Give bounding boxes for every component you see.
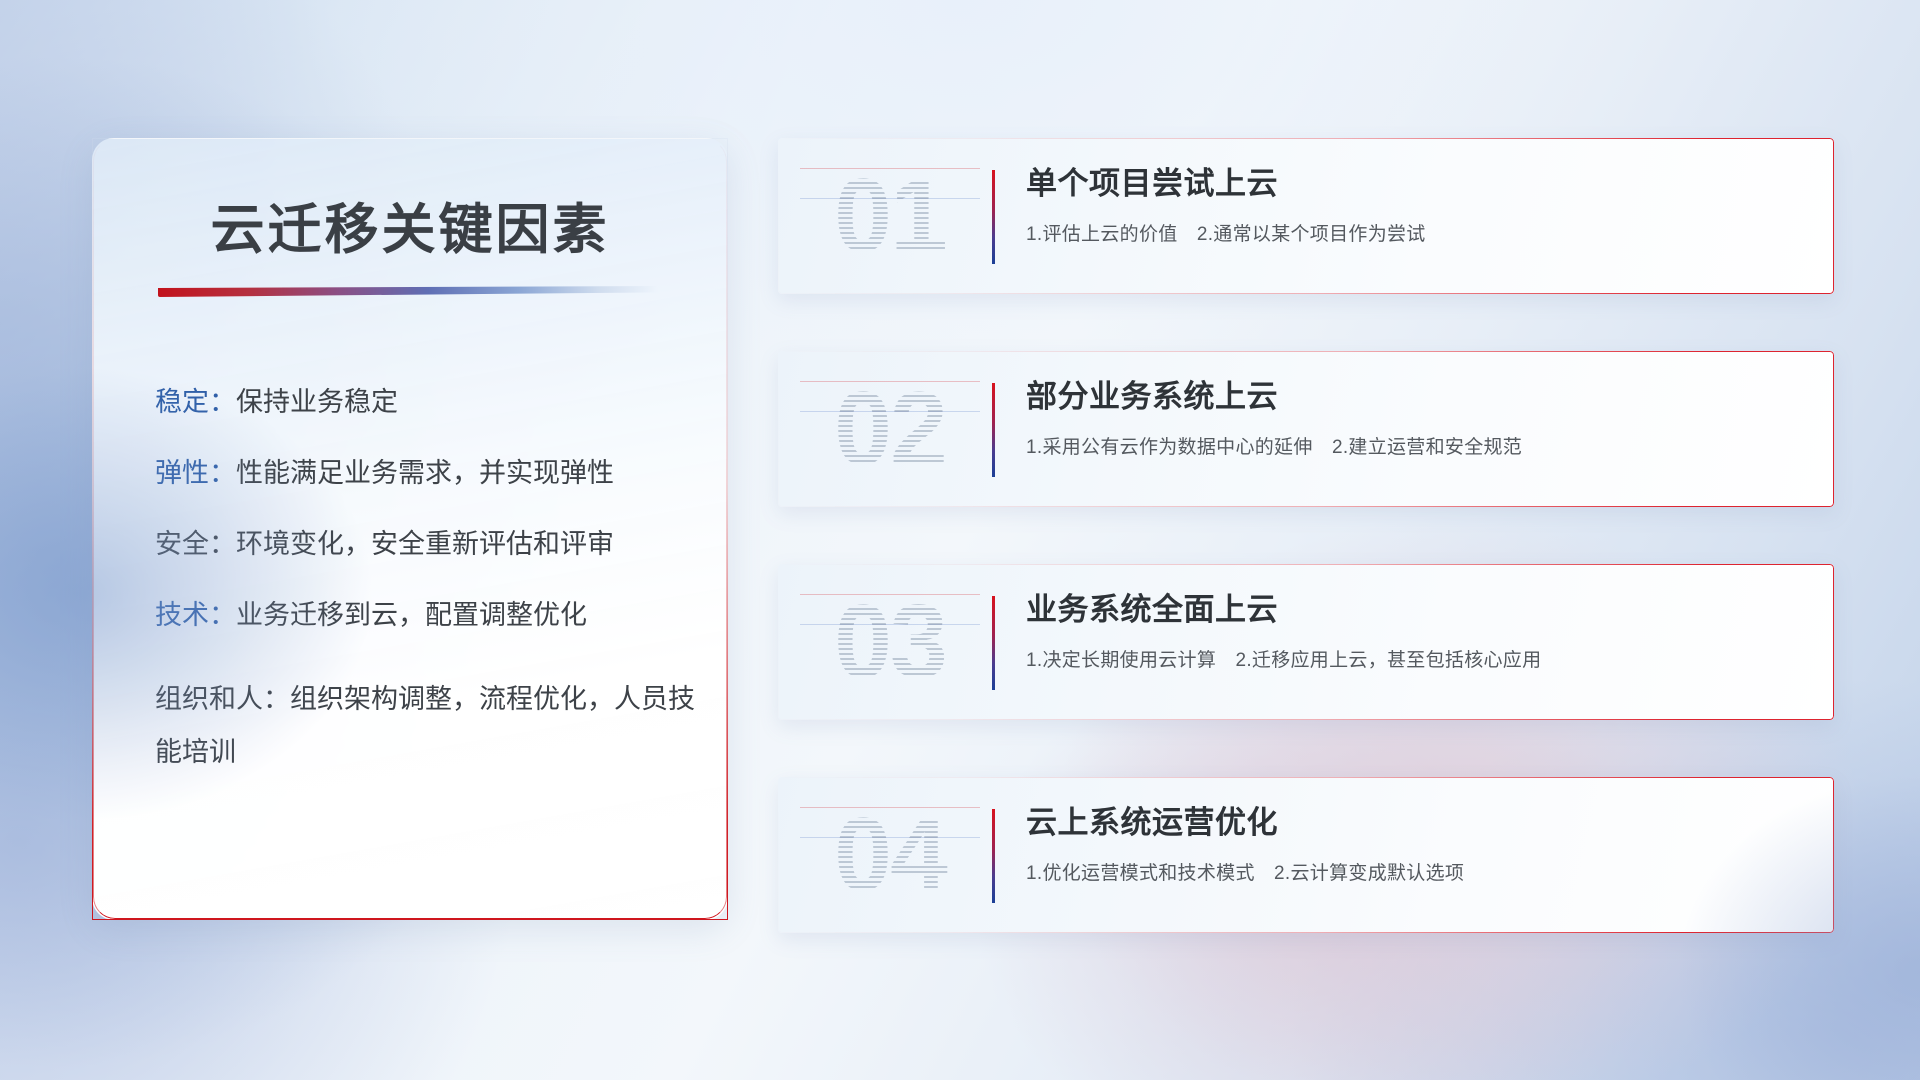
list-item: 稳定：保持业务稳定 bbox=[155, 389, 697, 416]
stage-description: 1.采用公有云作为数据中心的延伸 2.建立运营和安全规范 bbox=[1026, 432, 1810, 459]
factor-label: 稳定： bbox=[155, 387, 236, 417]
list-item: 弹性：性能满足业务需求，并实现弹性 bbox=[155, 460, 697, 487]
factor-value: 环境变化，安全重新评估和评审 bbox=[236, 529, 614, 559]
stage-description: 1.优化运营模式和技术模式 2.云计算变成默认选项 bbox=[1026, 858, 1810, 885]
stage-content: 业务系统全面上云 1.决定长期使用云计算 2.迁移应用上云，甚至包括核心应用 bbox=[1026, 592, 1810, 672]
factor-label: 安全： bbox=[155, 529, 236, 559]
stage-number-watermark: 04 bbox=[800, 791, 980, 919]
stage-content: 单个项目尝试上云 1.评估上云的价值 2.通常以某个项目作为尝试 bbox=[1026, 166, 1810, 246]
factor-value: 性能满足业务需求，并实现弹性 bbox=[236, 458, 614, 488]
key-factors-panel: 云迁移关键因素 稳定：保持业务稳定 弹性：性能满足业务需求，并实现弹性 安全：环… bbox=[92, 138, 728, 920]
stage-card-03[interactable]: 03 业务系统全面上云 1.决定长期使用云计算 2.迁移应用上云，甚至包括核心应… bbox=[778, 564, 1834, 720]
stage-content: 云上系统运营优化 1.优化运营模式和技术模式 2.云计算变成默认选项 bbox=[1026, 805, 1810, 885]
stage-accent-bar bbox=[992, 383, 995, 477]
stage-accent-bar bbox=[992, 170, 995, 264]
slide-canvas: 云迁移关键因素 稳定：保持业务稳定 弹性：性能满足业务需求，并实现弹性 安全：环… bbox=[0, 0, 1920, 1080]
list-item: 技术：业务迁移到云，配置调整优化 bbox=[155, 602, 697, 629]
stage-title: 业务系统全面上云 bbox=[1026, 592, 1810, 629]
list-item: 安全：环境变化，安全重新评估和评审 bbox=[155, 531, 697, 558]
stage-content: 部分业务系统上云 1.采用公有云作为数据中心的延伸 2.建立运营和安全规范 bbox=[1026, 379, 1810, 459]
stage-number-watermark: 02 bbox=[800, 365, 980, 493]
stage-title: 单个项目尝试上云 bbox=[1026, 166, 1810, 203]
stage-title: 部分业务系统上云 bbox=[1026, 379, 1810, 416]
stage-number-watermark: 03 bbox=[800, 578, 980, 706]
title-underline-accent bbox=[158, 286, 658, 297]
stage-card-02[interactable]: 02 部分业务系统上云 1.采用公有云作为数据中心的延伸 2.建立运营和安全规范 bbox=[778, 351, 1834, 507]
stage-accent-bar bbox=[992, 596, 995, 690]
factor-value: 保持业务稳定 bbox=[236, 387, 398, 417]
stage-number-watermark: 01 bbox=[800, 152, 980, 280]
factor-value: 业务迁移到云，配置调整优化 bbox=[236, 600, 587, 630]
key-factors-list: 稳定：保持业务稳定 弹性：性能满足业务需求，并实现弹性 安全：环境变化，安全重新… bbox=[155, 389, 697, 778]
stage-card-01[interactable]: 01 单个项目尝试上云 1.评估上云的价值 2.通常以某个项目作为尝试 bbox=[778, 138, 1834, 294]
stage-description: 1.决定长期使用云计算 2.迁移应用上云，甚至包括核心应用 bbox=[1026, 645, 1810, 672]
stage-accent-bar bbox=[992, 809, 995, 903]
factor-label: 技术： bbox=[155, 600, 236, 630]
factor-label: 组织和人： bbox=[155, 684, 290, 714]
stage-card-04[interactable]: 04 云上系统运营优化 1.优化运营模式和技术模式 2.云计算变成默认选项 bbox=[778, 777, 1834, 933]
factor-label: 弹性： bbox=[155, 458, 236, 488]
stage-description: 1.评估上云的价值 2.通常以某个项目作为尝试 bbox=[1026, 219, 1810, 246]
migration-stages-list: 01 单个项目尝试上云 1.评估上云的价值 2.通常以某个项目作为尝试 02 部… bbox=[778, 138, 1834, 933]
list-item: 组织和人：组织架构调整，流程优化，人员技能培训 bbox=[155, 673, 697, 778]
stage-title: 云上系统运营优化 bbox=[1026, 805, 1810, 842]
page-title: 云迁移关键因素 bbox=[93, 185, 727, 264]
